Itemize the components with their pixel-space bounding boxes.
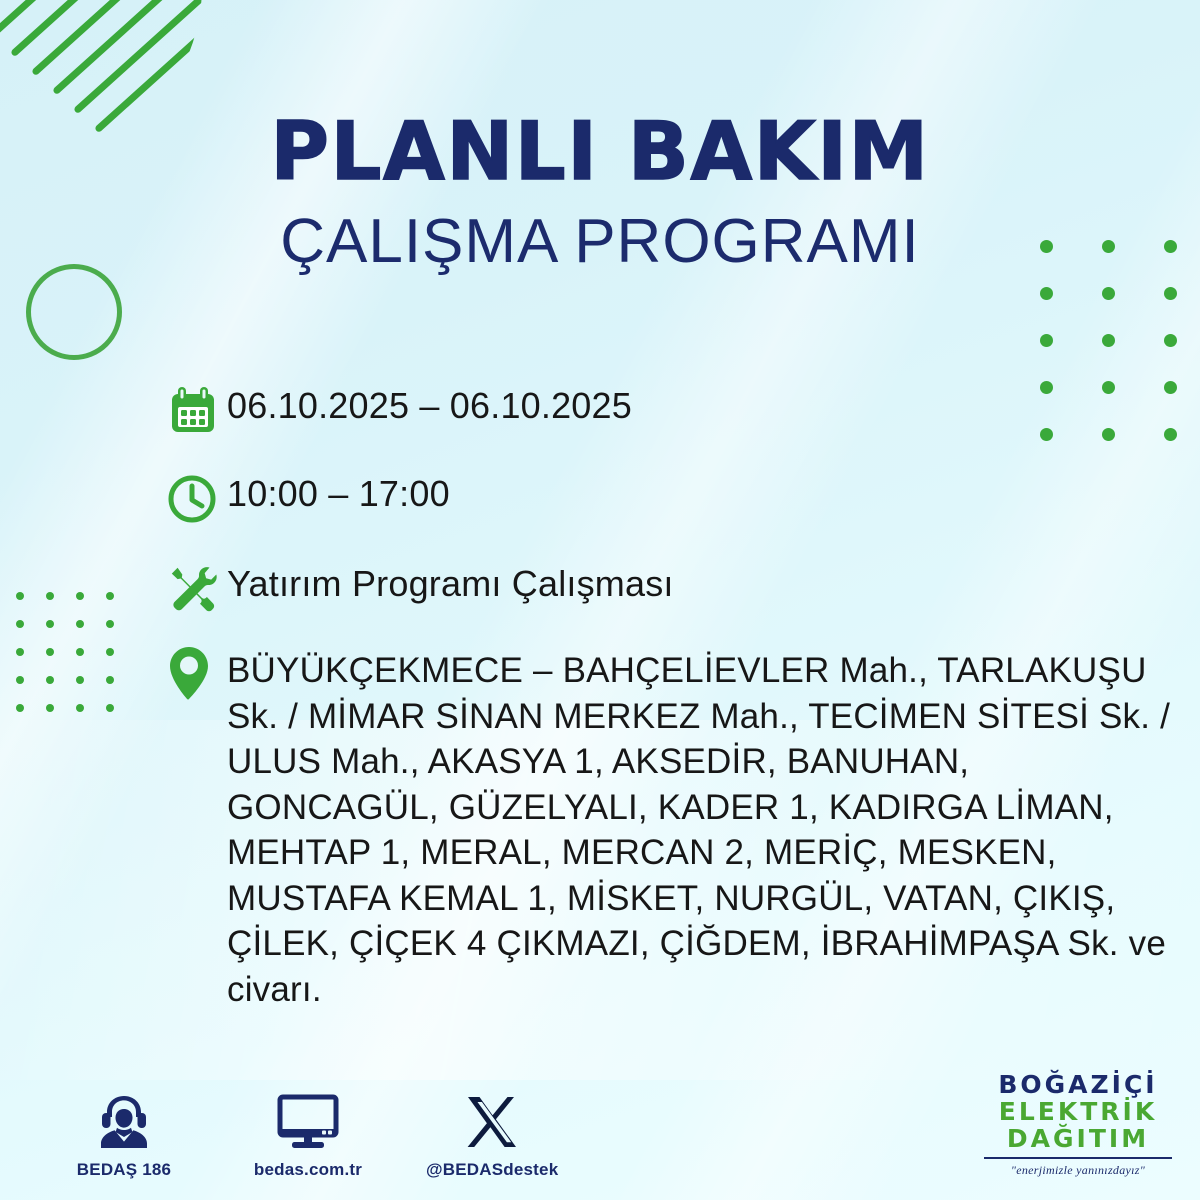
decoration-dot [16,676,24,684]
logo-slogan: "enerjimizle yanınızdayız" [978,1163,1178,1178]
logo-divider [984,1157,1172,1159]
info-row-work-type: Yatırım Programı Çalışması [165,556,1175,620]
info-row-address: BÜYÜKÇEKMECE – BAHÇELİEVLER Mah., TARLAK… [165,642,1175,1012]
decoration-dot [16,704,24,712]
page-title: PLANLI BAKIM [0,112,1200,192]
dot-grid-left-decoration [16,592,136,732]
poster-header: PLANLI BAKIM ÇALIŞMA PROGRAMI [0,112,1200,277]
stripe-line [0,0,202,19]
decoration-dot [76,648,84,656]
stripe-line [10,0,202,57]
decoration-dot [16,648,24,656]
decoration-dot [76,676,84,684]
time-range-value: 10:00 – 17:00 [227,466,450,516]
decoration-dot [106,648,114,656]
decoration-dot [106,676,114,684]
poster-footer: BEDAŞ 186 bedas.com.tr [0,1066,1200,1186]
decoration-dot [1164,287,1177,300]
contact-list: BEDAŞ 186 bedas.com.tr [58,1089,558,1180]
calendar-icon [165,378,227,442]
logo-line-elektrik: ELEKTRİK [978,1098,1178,1125]
decoration-dot [46,676,54,684]
contact-phone-label: BEDAŞ 186 [58,1160,190,1180]
poster-canvas: PLANLI BAKIM ÇALIŞMA PROGRAMI [0,0,1200,1200]
contact-phone[interactable]: BEDAŞ 186 [58,1089,190,1180]
stripe-line [31,0,202,76]
decoration-dot [1164,334,1177,347]
monitor-website-icon [242,1089,374,1151]
decoration-dot [46,620,54,628]
decoration-dot [76,620,84,628]
decoration-dot [46,648,54,656]
tools-icon [165,556,227,620]
decoration-dot [46,704,54,712]
contact-website-label: bedas.com.tr [242,1160,374,1180]
x-twitter-icon [426,1089,558,1151]
logo-line-dagitim: DAĞITIM [978,1125,1178,1152]
stripe-line [73,0,202,114]
contact-x-label: @BEDASdestek [426,1160,558,1180]
address-value: BÜYÜKÇEKMECE – BAHÇELİEVLER Mah., TARLAK… [227,642,1175,1012]
stripe-line [0,0,202,38]
decoration-dot [16,592,24,600]
stripe-line [52,0,202,95]
decoration-dot [1040,287,1053,300]
date-range-value: 06.10.2025 – 06.10.2025 [227,378,632,428]
contact-x-account[interactable]: @BEDASdestek [426,1089,558,1180]
decoration-dot [106,592,114,600]
bedas-logo: BOĞAZİÇİ ELEKTRİK DAĞITIM "enerjimizle y… [978,1071,1178,1178]
location-pin-icon [165,642,227,706]
contact-website[interactable]: bedas.com.tr [242,1089,374,1180]
info-block: 06.10.2025 – 06.10.2025 10:00 – 17:00 [165,378,1175,1040]
circle-outline-decoration [26,264,122,360]
decoration-dot [1102,287,1115,300]
decoration-dot [16,620,24,628]
decoration-dot [1102,334,1115,347]
info-row-time: 10:00 – 17:00 [165,466,1175,530]
decoration-dot [46,592,54,600]
decoration-dot [106,704,114,712]
clock-icon [165,466,227,530]
decoration-dot [76,592,84,600]
info-row-date: 06.10.2025 – 06.10.2025 [165,378,1175,442]
logo-line-bogazici: BOĞAZİÇİ [978,1071,1178,1098]
page-subtitle: ÇALIŞMA PROGRAMI [0,206,1200,277]
decoration-dot [76,704,84,712]
work-type-value: Yatırım Programı Çalışması [227,556,674,606]
decoration-dot [1040,334,1053,347]
decoration-dot [106,620,114,628]
headset-support-icon [58,1089,190,1151]
